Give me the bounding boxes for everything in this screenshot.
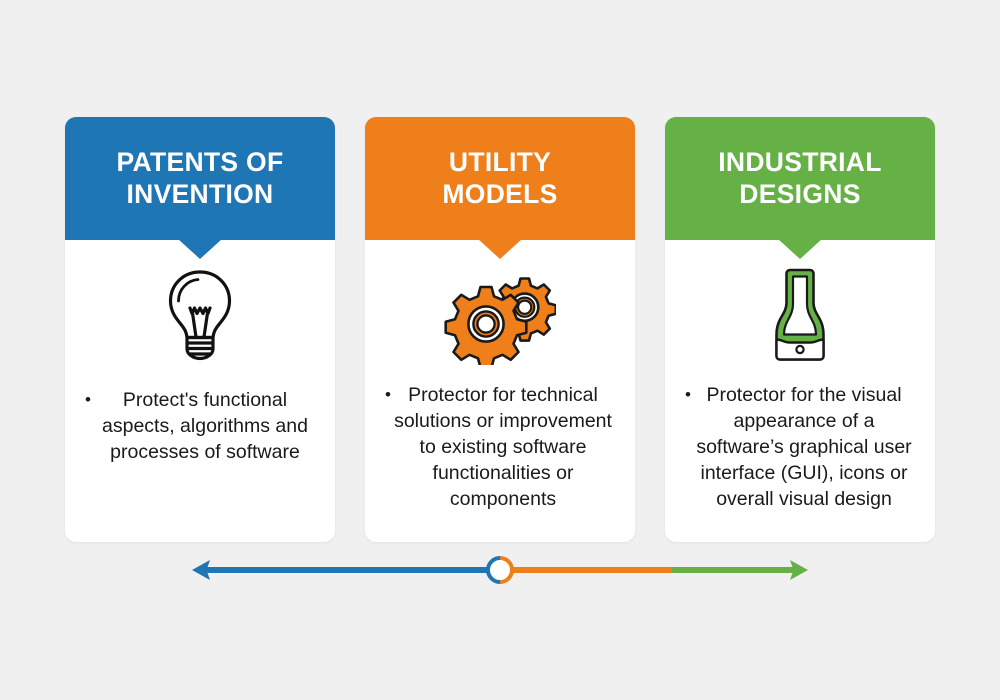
list-item: Protector for technical solutions or imp…: [379, 383, 621, 513]
card-body-utility: Protector for technical solutions or imp…: [365, 380, 635, 542]
bullet-list-patents: Protect's functional aspects, algorithms…: [79, 388, 321, 542]
header-notch-patents: [178, 239, 222, 259]
card-title-industrial: INDUSTRIAL DESIGNS: [708, 147, 891, 210]
card-title-utility: UTILITY MODELS: [432, 147, 567, 210]
bullet-list-industrial: Protector for the visual appearance of a…: [679, 383, 921, 542]
card-header-utility: UTILITY MODELS: [365, 117, 635, 240]
card-patents-of-invention[interactable]: PATENTS OF INVENTION Pro: [65, 117, 335, 542]
list-item: Protect's functional aspects, algorithms…: [79, 388, 321, 466]
card-group: PATENTS OF INVENTION Pro: [65, 117, 935, 542]
bottle-design-icon: [772, 267, 828, 368]
card-title-patents: PATENTS OF INVENTION: [107, 147, 294, 210]
bullet-list-utility: Protector for technical solutions or imp…: [379, 383, 621, 542]
card-body-industrial: Protector for the visual appearance of a…: [665, 380, 935, 542]
spectrum-axis: [190, 550, 810, 590]
infographic-root: PATENTS OF INVENTION Pro: [0, 0, 1000, 700]
card-header-patents: PATENTS OF INVENTION: [65, 117, 335, 240]
header-notch-industrial: [778, 239, 822, 259]
gears-icon: [444, 265, 556, 370]
list-item: Protector for the visual appearance of a…: [679, 383, 921, 513]
card-industrial-designs[interactable]: INDUSTRIAL DESIGNS: [665, 117, 935, 542]
card-body-patents: Protect's functional aspects, algorithms…: [65, 380, 335, 542]
header-notch-utility: [478, 239, 522, 259]
lightbulb-icon: [161, 267, 239, 368]
card-header-industrial: INDUSTRIAL DESIGNS: [665, 117, 935, 240]
card-icon-wrap-patents: [65, 240, 335, 380]
card-utility-models[interactable]: UTILITY MODELS: [365, 117, 635, 542]
card-icon-wrap-industrial: [665, 240, 935, 380]
card-icon-wrap-utility: [365, 240, 635, 380]
